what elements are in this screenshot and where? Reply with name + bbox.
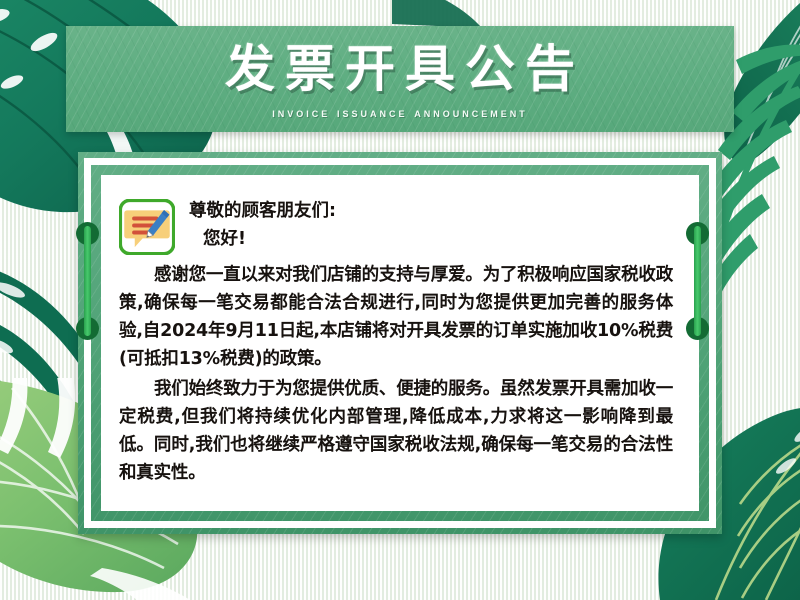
- letter-body: 尊敬的顾客朋友们: 您好! 感谢您一直以来对我们店铺的支持与厚爱。为了积极响应国…: [101, 175, 699, 511]
- page-subtitle: Invoice Issuance Announcement: [272, 105, 528, 120]
- handle-bar: [694, 226, 701, 336]
- greeting-block: 尊敬的顾客朋友们: 您好!: [189, 197, 336, 254]
- paragraph-2: 我们始终致力于为您提供优质、便捷的服务。虽然发票开具需加收一定税费,但我们将持续…: [119, 375, 673, 487]
- frame-handle-right: [690, 222, 705, 340]
- salutation: 尊敬的顾客朋友们:: [189, 197, 336, 225]
- greeting: 您好!: [189, 225, 336, 253]
- content-panel: 尊敬的顾客朋友们: 您好! 感谢您一直以来对我们店铺的支持与厚爱。为了积极响应国…: [78, 152, 722, 534]
- title-banner: 发票开具公告 Invoice Issuance Announcement: [66, 26, 734, 132]
- handle-bar: [84, 226, 91, 336]
- page-title: 发票开具公告: [225, 44, 585, 94]
- frame-handle-left: [80, 222, 95, 340]
- letter-card: 尊敬的顾客朋友们: 您好! 感谢您一直以来对我们店铺的支持与厚爱。为了积极响应国…: [101, 175, 699, 511]
- panel-inner-border: 尊敬的顾客朋友们: 您好! 感谢您一直以来对我们店铺的支持与厚爱。为了积极响应国…: [84, 158, 716, 528]
- announcement-poster: 发票开具公告 Invoice Issuance Announcement: [0, 0, 800, 600]
- paragraph-1: 感谢您一直以来对我们店铺的支持与厚爱。为了积极响应国家税收政策,确保每一笔交易都…: [119, 261, 673, 373]
- greeting-row: 尊敬的顾客朋友们: 您好!: [119, 197, 673, 255]
- note-speech-bubble-pencil-icon: [119, 199, 175, 255]
